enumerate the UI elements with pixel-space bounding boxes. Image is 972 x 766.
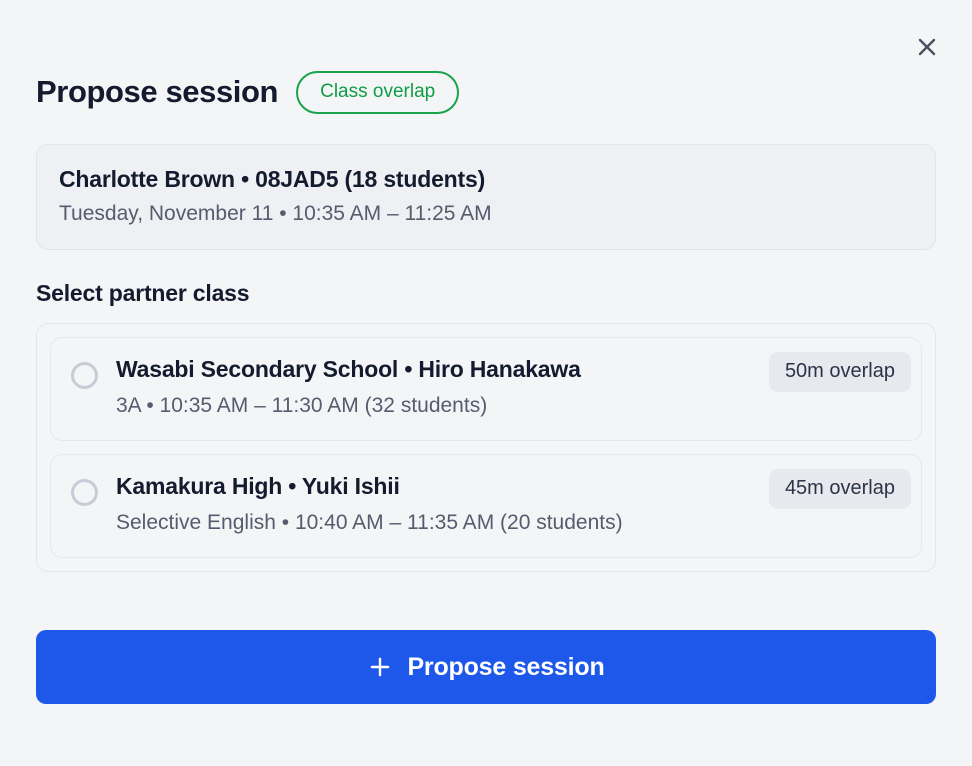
list-item[interactable]: Kamakura High • Yuki Ishii Selective Eng…: [50, 454, 922, 558]
option-title: Kamakura High • Yuki Ishii: [116, 473, 400, 499]
session-teacher-class: Charlotte Brown • 08JAD5 (18 students): [59, 165, 913, 194]
modal-header: Propose session Class overlap: [36, 36, 936, 132]
overlap-badge: 45m overlap: [769, 469, 911, 509]
session-datetime: Tuesday, November 11 • 10:35 AM – 11:25 …: [59, 201, 913, 227]
propose-session-modal: Propose session Class overlap Charlotte …: [0, 0, 972, 766]
modal-footer: Propose session: [36, 630, 936, 730]
overlap-badge: 50m overlap: [769, 352, 911, 392]
close-icon[interactable]: [908, 28, 946, 66]
propose-session-button-label: Propose session: [407, 653, 604, 682]
propose-session-button[interactable]: Propose session: [36, 630, 936, 704]
partner-section-heading: Select partner class: [36, 280, 936, 307]
plus-icon: [367, 654, 393, 680]
partner-class-options: Wasabi Secondary School • Hiro Hanakawa …: [36, 323, 936, 572]
session-summary-card: Charlotte Brown • 08JAD5 (18 students) T…: [36, 144, 936, 250]
option-title: Wasabi Secondary School • Hiro Hanakawa: [116, 356, 581, 382]
option-subtitle: Selective English • 10:40 AM – 11:35 AM …: [116, 509, 711, 537]
list-item[interactable]: Wasabi Secondary School • Hiro Hanakawa …: [50, 337, 922, 441]
page-title: Propose session: [36, 74, 278, 110]
radio-button[interactable]: [71, 479, 98, 506]
radio-button[interactable]: [71, 362, 98, 389]
option-subtitle: 3A • 10:35 AM – 11:30 AM (32 students): [116, 392, 711, 420]
status-badge: Class overlap: [296, 71, 459, 114]
